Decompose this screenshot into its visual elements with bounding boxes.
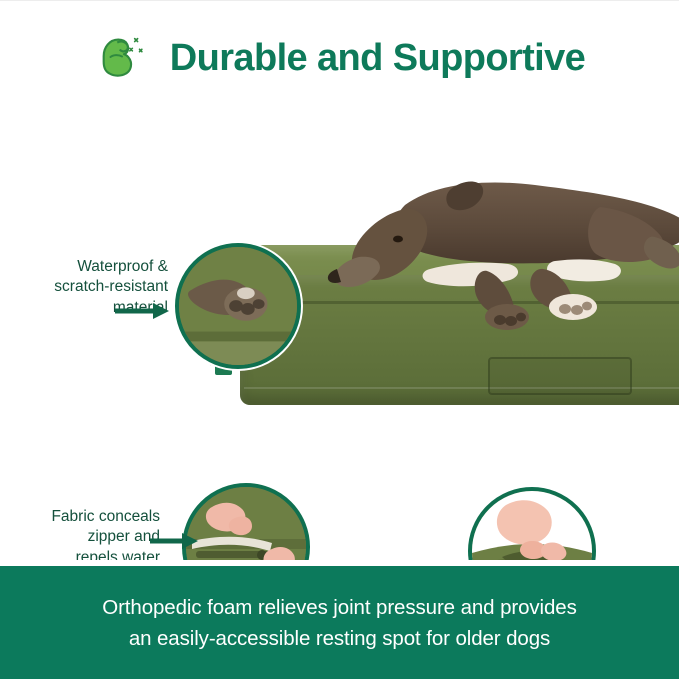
arrow-right-icon	[150, 531, 202, 551]
banner-line: an easily-accessible resting spot for ol…	[129, 625, 550, 652]
callout-line: zipper and	[8, 527, 160, 547]
callout-circle-handle	[468, 487, 596, 560]
bottom-banner: Orthopedic foam relieves joint pressure …	[0, 566, 679, 679]
hand-opening-zipper-flap-icon	[186, 487, 306, 560]
callout-line: scratch-resistant	[18, 277, 168, 297]
dog-paw-on-fabric-icon	[179, 247, 297, 365]
callout-line: Fabric conceals	[8, 507, 160, 527]
built-in-handle	[488, 357, 632, 395]
callout-text-zipper: Fabric conceals zipper and repels water	[8, 507, 160, 560]
flexed-bicep-icon	[94, 27, 156, 89]
product-photo-stage: PETFUSION	[0, 105, 679, 560]
dog-photo	[255, 165, 679, 355]
arrow-up-right-icon	[440, 551, 486, 560]
banner-line: Orthopedic foam relieves joint pressure …	[102, 594, 577, 621]
callout-line: repels water	[8, 548, 160, 560]
arrow-right-icon	[115, 301, 173, 321]
callout-circle-waterproof	[175, 243, 301, 369]
page-title: Durable and Supportive	[170, 39, 585, 77]
header: Durable and Supportive	[0, 15, 679, 101]
callout-line: Waterproof &	[18, 257, 168, 277]
infographic-page: Durable and Supportive PETFUSION	[0, 0, 679, 679]
hand-gripping-built-in-handle-icon	[472, 491, 592, 560]
